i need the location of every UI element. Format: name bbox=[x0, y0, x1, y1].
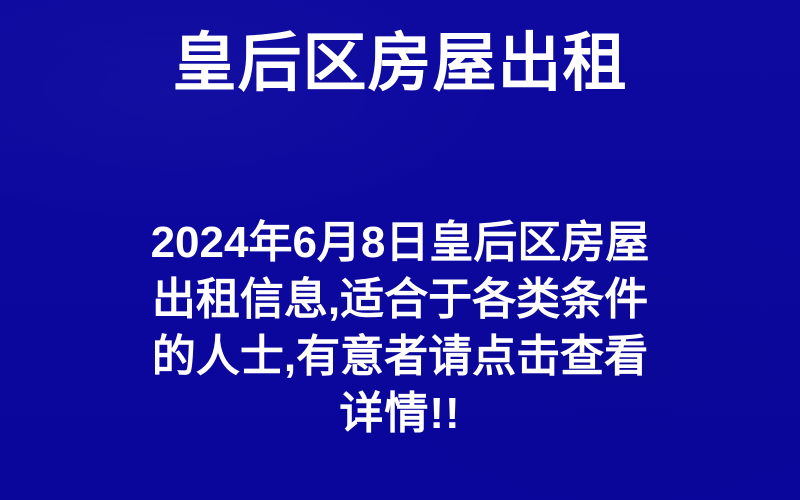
body-line-3: 的人士,有意者请点击查看 bbox=[130, 328, 670, 385]
rental-listing-banner: 皇后区房屋出租 2024年6月8日皇后区房屋 出租信息,适合于各类条件 的人士,… bbox=[0, 0, 800, 500]
body-line-2: 出租信息,适合于各类条件 bbox=[130, 271, 670, 328]
body-line-1: 2024年6月8日皇后区房屋 bbox=[130, 214, 670, 271]
banner-title-text: 皇后区房屋出租 bbox=[173, 26, 628, 100]
banner-title: 皇后区房屋出租 bbox=[0, 26, 800, 100]
banner-body: 2024年6月8日皇后区房屋 出租信息,适合于各类条件 的人士,有意者请点击查看… bbox=[130, 214, 670, 442]
body-line-4: 详情!! bbox=[130, 385, 670, 442]
